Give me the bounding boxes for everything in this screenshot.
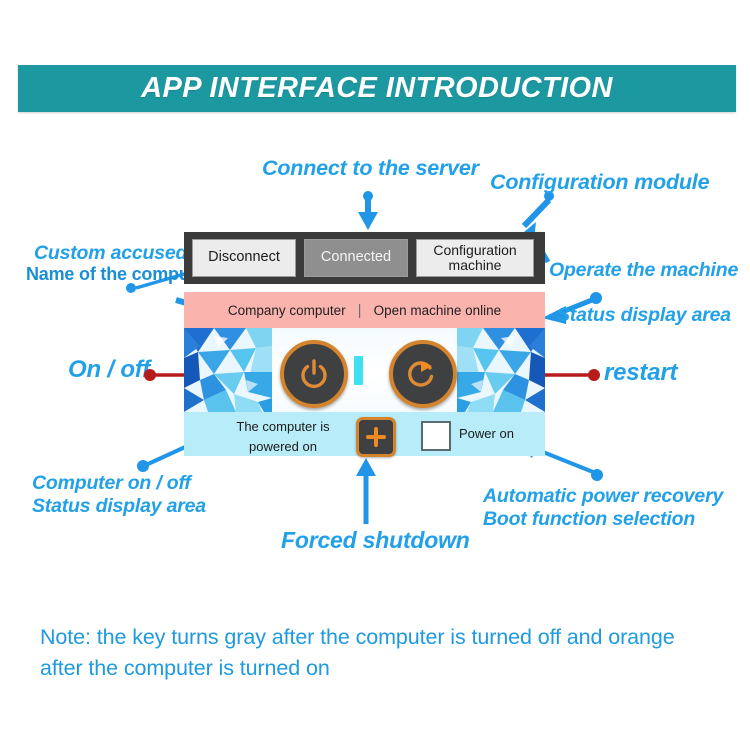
app-mockup-panel: Disconnect Connected Configuration machi… [184,232,545,456]
decor-pattern-right [457,328,545,412]
power-button[interactable] [280,340,348,408]
status-display-bar: Company computer | Open machine online [184,292,545,328]
power-icon [297,357,331,391]
computer-name-value: Company computer [228,303,346,318]
footer-note-line1: Note: the key turns gray after the compu… [40,622,730,653]
restart-icon [406,357,440,391]
online-state-value: Open machine online [374,303,502,318]
footer-note: Note: the key turns gray after the compu… [40,622,730,683]
power-state-line2: powered on [220,437,346,457]
tab-config-line1: Configuration [433,242,516,258]
status-separator: | [358,302,362,319]
footer-note-line2: after the computer is turned on [40,653,730,684]
machine-control-area [184,328,545,412]
power-state-text: The computer is powered on [220,417,346,457]
app-tab-bar: Disconnect Connected Configuration machi… [184,232,545,284]
status-indicator-bar [354,356,363,385]
restart-button[interactable] [389,340,457,408]
tab-configuration-machine-label: Configuration machine [433,243,516,273]
forced-shutdown-button[interactable] [356,417,396,457]
power-state-bar: The computer is powered on Power on [184,412,545,456]
plus-icon [365,426,387,448]
auto-power-recovery-label: Power on [459,426,514,441]
tab-disconnect[interactable]: Disconnect [192,239,296,277]
power-state-line1: The computer is [220,417,346,437]
tab-configuration-machine[interactable]: Configuration machine [416,239,534,277]
decor-pattern-left [184,328,272,412]
tab-config-line2: machine [449,257,502,273]
tab-connected[interactable]: Connected [304,239,408,277]
auto-power-recovery-checkbox[interactable] [421,421,451,451]
